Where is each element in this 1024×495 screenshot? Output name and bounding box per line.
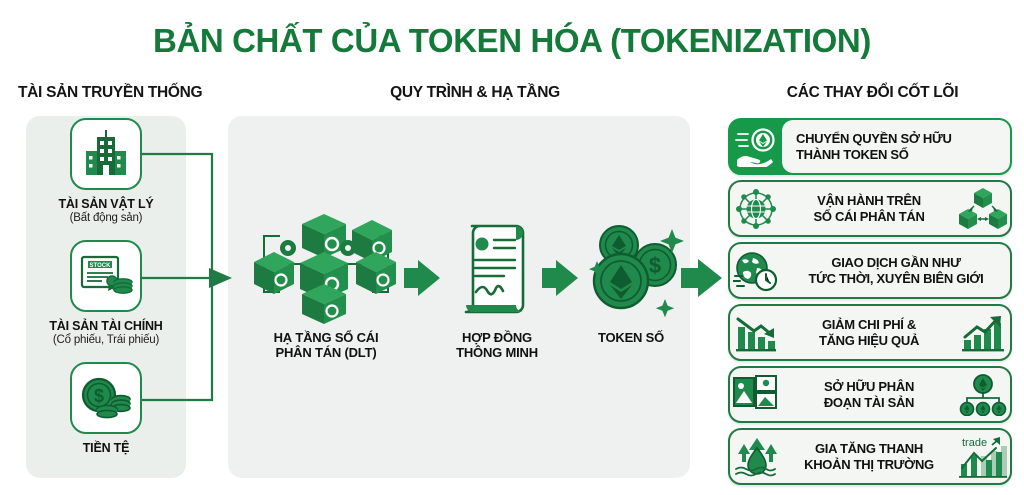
- benefit-text-fractional-ownership: SỞ HỮU PHÂN ĐOẠN TÀI SẢN: [782, 379, 956, 409]
- svg-text:$: $: [94, 386, 104, 406]
- cube-group: [254, 214, 396, 324]
- benefit-line1-1: VẬN HÀNH TRÊN: [784, 193, 954, 208]
- asset-tile-physical: [70, 118, 142, 190]
- token-split-tree-icon: [958, 374, 1008, 416]
- blockchain-cubes-icon: [240, 200, 412, 328]
- benefit-line2-1: SỔ CÁI PHÂN TÁN: [784, 209, 954, 224]
- distributed-network-globe-icon: [734, 187, 778, 231]
- asset-label-physical: TÀI SẢN VẬT LÝ: [26, 197, 186, 211]
- asset-label-currency: TIỀN TỆ: [26, 441, 186, 455]
- column-header-core-changes: CÁC THAY ĐỔI CỐT LÕI: [745, 84, 1000, 102]
- benefit-card-ownership-tokenization[interactable]: CHUYỂN QUYỀN SỞ HỮU THÀNH TOKEN SỐ: [728, 118, 1012, 175]
- benefit-text-instant-crossborder: GIAO DỊCH GẦN NHƯ TỨC THỜI, XUYÊN BIÊN G…: [782, 255, 1010, 285]
- process-step-dlt: HẠ TẦNG SỔ CÁI PHÂN TÁN (DLT): [236, 198, 416, 361]
- process-art-smart-contract: [432, 210, 562, 330]
- stock-certificate-icon: STOCK: [78, 252, 134, 300]
- fractional-images-icon-wrap: [730, 368, 782, 421]
- benefit-card-fractional-ownership[interactable]: SỞ HỮU PHÂN ĐOẠN TÀI SẢN: [728, 366, 1012, 423]
- digital-token-coins-icon: $: [575, 217, 687, 323]
- trade-growth-chart-icon: trade: [958, 434, 1008, 480]
- benefit-text-ownership-tokenization: CHUYỂN QUYỀN SỞ HỮU THÀNH TOKEN SỐ: [782, 120, 1010, 173]
- benefit-card-distributed-ledger[interactable]: VẬN HÀNH TRÊN SỔ CÁI PHÂN TÁN: [728, 180, 1012, 237]
- benefit-card-cost-efficiency[interactable]: GIẢM CHI PHÍ & TĂNG HIỆU QUẢ: [728, 304, 1012, 361]
- benefit-text-distributed-ledger: VẬN HÀNH TRÊN SỔ CÁI PHÂN TÁN: [782, 193, 956, 223]
- process-step-token: $ TOKEN SỐ: [566, 210, 696, 345]
- benefit-line1-0: CHUYỂN QUYỀN SỞ HỮU: [796, 131, 952, 146]
- benefit-line1-5: GIA TĂNG THANH: [784, 441, 954, 456]
- svg-text:STOCK: STOCK: [90, 263, 112, 269]
- asset-sublabel-physical: (Bất động sản): [26, 212, 186, 224]
- smart-contract-scroll-icon: [458, 218, 536, 322]
- page-title: BẢN CHẤT CỦA TOKEN HÓA (TOKENIZATION): [0, 22, 1024, 60]
- trade-growth-chart-icon-wrap: trade: [956, 430, 1010, 483]
- money-coins-icon: $: [78, 374, 134, 422]
- process-art-dlt: [236, 198, 416, 330]
- fractional-images-icon: [732, 374, 780, 416]
- bar-chart-up-icon: [960, 313, 1006, 353]
- asset-currency: $ TIỀN TỆ: [26, 362, 186, 455]
- liquidity-arrows-icon: [733, 436, 779, 478]
- linked-cubes-icon: [958, 188, 1008, 230]
- column-header-traditional-assets: TÀI SẢN TRUYỀN THỐNG: [18, 84, 202, 102]
- asset-physical: TÀI SẢN VẬT LÝ (Bất động sản): [26, 118, 186, 224]
- linked-cubes-icon-wrap: [956, 182, 1010, 235]
- asset-sublabel-financial: (Cổ phiếu, Trái phiếu): [26, 334, 186, 346]
- benefit-line1-2: GIAO DỊCH GẦN NHƯ: [784, 255, 1008, 270]
- process-art-token: $: [566, 210, 696, 330]
- process-label-contract-line1: HỢP ĐỒNG: [432, 330, 562, 345]
- asset-label-financial: TÀI SẢN TÀI CHÍNH: [26, 319, 186, 333]
- infographic-root: BẢN CHẤT CỦA TOKEN HÓA (TOKENIZATION) TÀ…: [0, 0, 1024, 495]
- column-header-process: QUY TRÌNH & HẠ TẦNG: [355, 84, 595, 102]
- process-step-smart-contract: HỢP ĐỒNG THÔNG MINH: [432, 210, 562, 361]
- benefit-line2-5: KHOẢN THỊ TRƯỜNG: [784, 457, 954, 472]
- globe-clock-icon: [733, 250, 779, 292]
- benefit-line1-3: GIẢM CHI PHÍ &: [784, 317, 954, 332]
- asset-financial: STOCK TÀI SẢN TÀI CHÍNH (Cổ phiếu, Trái …: [26, 240, 186, 346]
- globe-clock-icon-wrap: [730, 244, 782, 297]
- bar-chart-down-icon: [734, 313, 778, 353]
- benefit-line2-2: TỨC THỜI, XUYÊN BIÊN GIỚI: [784, 271, 1008, 286]
- trade-label: trade: [962, 437, 987, 449]
- building-icon: [79, 129, 133, 179]
- hand-holding-token-icon-wrap: [730, 120, 782, 173]
- process-label-dlt-line2: PHÂN TÁN (DLT): [236, 345, 416, 360]
- benefit-line2-3: TĂNG HIỆU QUẢ: [784, 333, 954, 348]
- benefit-card-market-liquidity[interactable]: GIA TĂNG THANH KHOẢN THỊ TRƯỜNG trade: [728, 428, 1012, 485]
- benefit-line2-4: ĐOẠN TÀI SẢN: [784, 395, 954, 410]
- benefit-text-cost-efficiency: GIẢM CHI PHÍ & TĂNG HIỆU QUẢ: [782, 317, 956, 347]
- benefit-line2-0: THÀNH TOKEN SỐ: [796, 147, 909, 162]
- process-label-contract-line2: THÔNG MINH: [432, 345, 562, 360]
- asset-tile-currency: $: [70, 362, 142, 434]
- token-split-tree-icon-wrap: [956, 368, 1010, 421]
- asset-tile-financial: STOCK: [70, 240, 142, 312]
- svg-text:$: $: [649, 253, 661, 278]
- process-label-token-line1: TOKEN SỐ: [566, 330, 696, 345]
- benefit-card-instant-crossborder[interactable]: GIAO DỊCH GẦN NHƯ TỨC THỜI, XUYÊN BIÊN G…: [728, 242, 1012, 299]
- benefit-text-market-liquidity: GIA TĂNG THANH KHOẢN THỊ TRƯỜNG: [782, 441, 956, 471]
- process-label-dlt-line1: HẠ TẦNG SỔ CÁI: [236, 330, 416, 345]
- liquidity-arrows-icon-wrap: [730, 430, 782, 483]
- benefit-card-list: CHUYỂN QUYỀN SỞ HỮU THÀNH TOKEN SỐ: [728, 118, 1012, 490]
- distributed-network-globe-icon-wrap: [730, 182, 782, 235]
- bar-chart-up-icon-wrap: [956, 306, 1010, 359]
- bar-chart-down-icon-wrap: [730, 306, 782, 359]
- benefit-line1-4: SỞ HỮU PHÂN: [784, 379, 954, 394]
- hand-holding-token-icon: [733, 127, 779, 167]
